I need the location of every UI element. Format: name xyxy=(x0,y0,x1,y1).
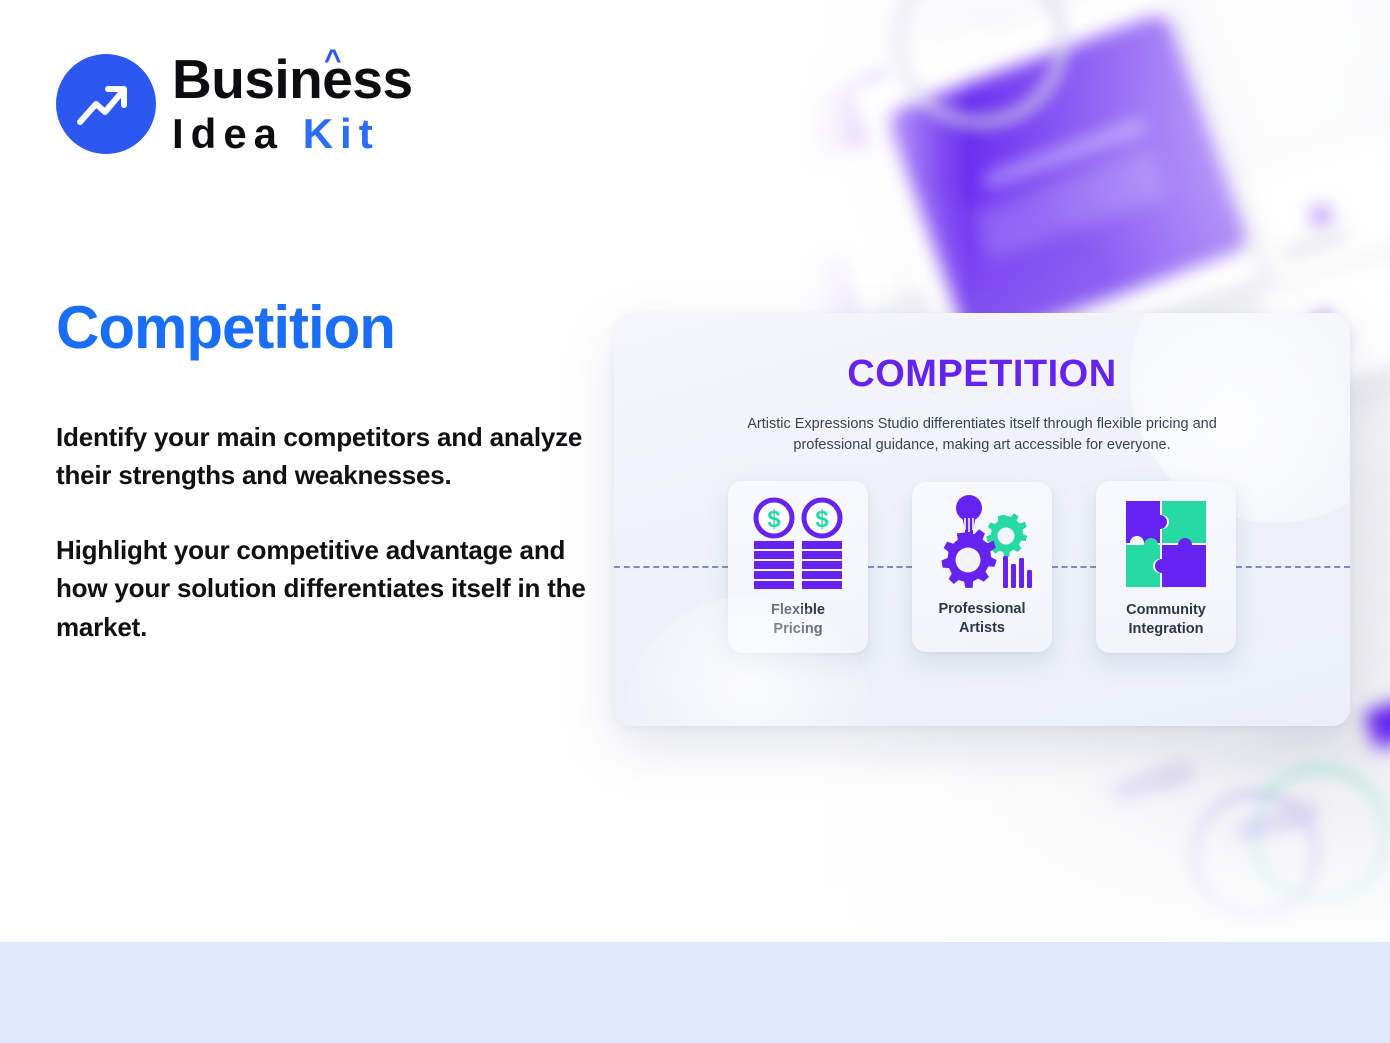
svg-text:$: $ xyxy=(815,506,829,533)
feature-label-professional-artists: Professional Artists xyxy=(938,600,1025,638)
gear-teal-shape xyxy=(986,513,1027,556)
feature-label-line2: Pricing xyxy=(773,621,822,637)
feature-label-line2: Integration xyxy=(1129,621,1204,637)
brand-caret-accent: ^ xyxy=(324,46,341,76)
feature-card-flexible-pricing[interactable]: $ $ xyxy=(728,481,868,653)
brand-logo: Business ^ Idea Kit xyxy=(56,52,413,155)
puzzle-pieces-icon xyxy=(1120,493,1212,597)
feature-label-line1: Professional xyxy=(938,601,1025,617)
connector-line-left xyxy=(614,566,728,568)
bar-chart-shape xyxy=(1003,556,1032,588)
connector-line-right xyxy=(1236,566,1350,568)
brand-wordmark: Business ^ Idea Kit xyxy=(172,52,413,155)
slide-title: COMPETITION xyxy=(614,353,1350,396)
description-block: Identify your main competitors and analy… xyxy=(56,418,586,646)
slide-page: Business ^ Idea Kit Competition Identify… xyxy=(0,0,1390,1043)
trending-arrow-circle-icon xyxy=(56,54,156,154)
gears-lightbulb-chart-icon xyxy=(928,492,1036,596)
description-paragraph-2: Highlight your competitive advantage and… xyxy=(56,531,586,646)
brand-name-kit: Kit xyxy=(303,110,380,157)
bottom-color-band xyxy=(0,942,1390,1043)
slide-subtitle: Artistic Expressions Studio differentiat… xyxy=(614,414,1350,455)
brand-name-idea: Idea xyxy=(172,110,284,157)
coin-stacks-icon: $ $ xyxy=(746,493,850,597)
feature-row: $ $ xyxy=(614,481,1350,653)
connector-line-middle-2 xyxy=(1052,566,1096,568)
feature-label-line2: Artists xyxy=(959,620,1005,636)
page-title: Competition xyxy=(56,296,395,359)
feature-label-community-integration: Community Integration xyxy=(1126,601,1206,639)
feature-label-line1: Community xyxy=(1126,602,1206,618)
feature-label-flexible-pricing: Flexible Pricing xyxy=(771,601,825,639)
connector-line-middle-1 xyxy=(868,566,912,568)
slide-preview-card[interactable]: COMPETITION Artistic Expressions Studio … xyxy=(614,313,1350,726)
feature-card-community-integration[interactable]: Community Integration xyxy=(1096,481,1236,653)
description-paragraph-1: Identify your main competitors and analy… xyxy=(56,418,586,495)
brand-name-line1: Business ^ xyxy=(172,52,413,107)
feature-label-line1: Flexible xyxy=(771,602,825,618)
feature-card-professional-artists[interactable]: Professional Artists xyxy=(912,482,1052,652)
svg-text:$: $ xyxy=(767,506,781,533)
brand-name-line2: Idea Kit xyxy=(172,113,413,155)
brand-name-text: Business xyxy=(172,48,413,110)
lightbulb-shape xyxy=(956,495,982,535)
